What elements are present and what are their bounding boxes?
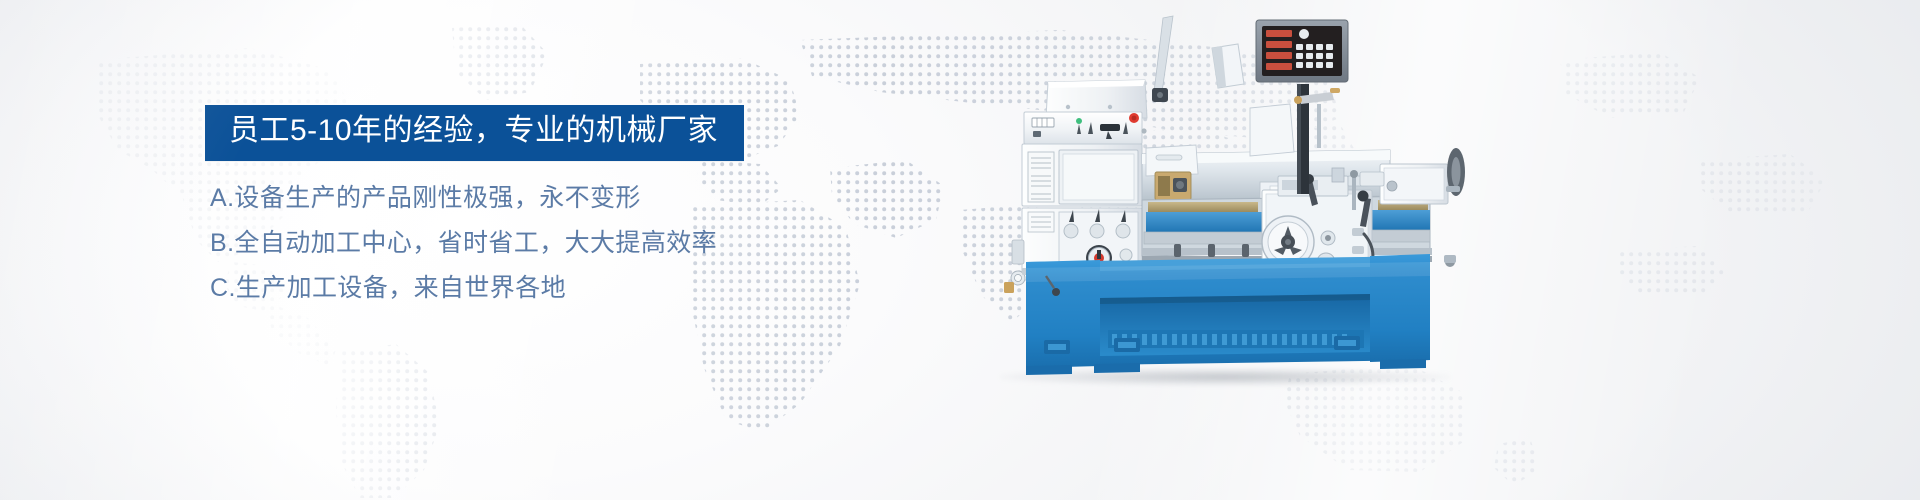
list-item: C.生产加工设备，来自世界各地 bbox=[210, 276, 985, 301]
list-item: A.设备生产的产品刚性极强，永不变形 bbox=[210, 186, 985, 211]
copy-block: 员工5-10年的经验，专业的机械厂家 A.设备生产的产品刚性极强，永不变形 B.… bbox=[205, 105, 985, 301]
feature-list: A.设备生产的产品刚性极强，永不变形 B.全自动加工中心，省时省工，大大提高效率… bbox=[205, 186, 985, 301]
hero-banner: 员工5-10年的经验，专业的机械厂家 A.设备生产的产品刚性极强，永不变形 B.… bbox=[0, 0, 1920, 500]
headline-banner: 员工5-10年的经验，专业的机械厂家 bbox=[205, 105, 744, 161]
list-item: B.全自动加工中心，省时省工，大大提高效率 bbox=[210, 231, 985, 256]
metal-lathe-machine-image bbox=[960, 0, 1480, 400]
